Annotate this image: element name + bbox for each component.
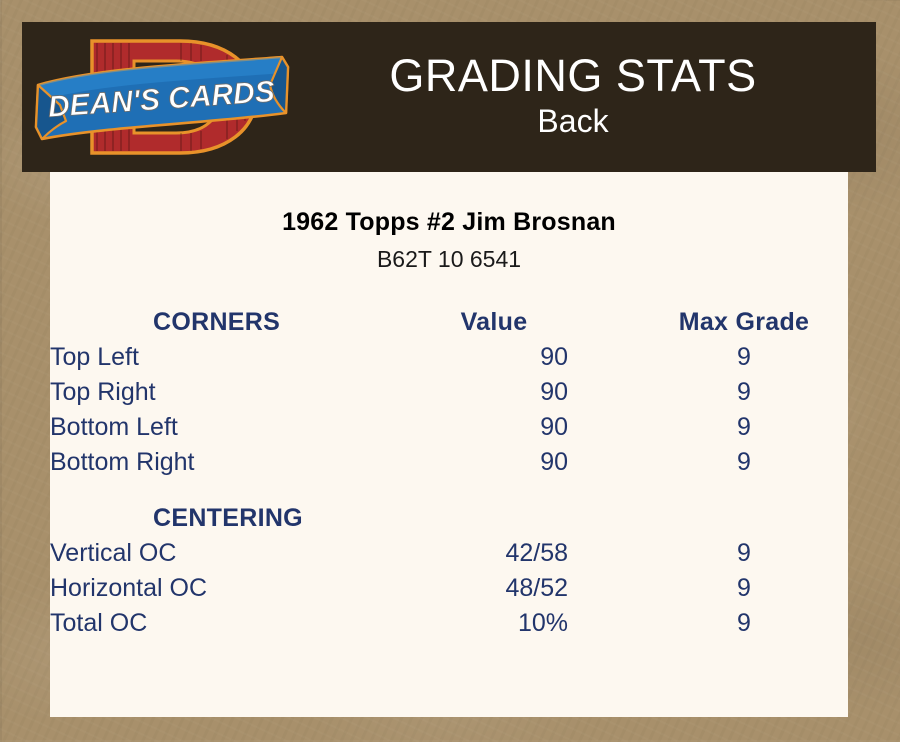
- row-label: Vertical OC: [50, 536, 420, 571]
- section-header-centering: CENTERING: [50, 501, 848, 536]
- row-label: Total OC: [50, 606, 420, 641]
- grading-stats-table: CORNERS Value Max Grade Top Left 90 9 To…: [50, 305, 848, 641]
- row-max-grade: 9: [640, 375, 848, 410]
- column-header-max-grade: Max Grade: [640, 305, 848, 340]
- table-row: Bottom Left 90 9: [50, 410, 848, 445]
- row-max-grade: 9: [640, 606, 848, 641]
- section-header-corners: CORNERS Value Max Grade: [50, 305, 848, 340]
- section-spacer: [50, 480, 848, 501]
- row-max-grade: 9: [640, 340, 848, 375]
- row-value: 90: [420, 340, 640, 375]
- content-panel: 1962 Topps #2 Jim Brosnan B62T 10 6541 C…: [50, 172, 848, 717]
- table-row: Horizontal OC 48/52 9: [50, 571, 848, 606]
- page-subtitle: Back: [300, 101, 846, 141]
- row-value: 48/52: [420, 571, 640, 606]
- row-value: 90: [420, 410, 640, 445]
- table-row: Total OC 10% 9: [50, 606, 848, 641]
- row-value: 10%: [420, 606, 640, 641]
- row-max-grade: 9: [640, 571, 848, 606]
- row-label: Bottom Left: [50, 410, 420, 445]
- section-title-corners: CORNERS: [50, 305, 420, 340]
- row-value: 90: [420, 375, 640, 410]
- table-row: Top Right 90 9: [50, 375, 848, 410]
- card-subtitle: B62T 10 6541: [50, 246, 848, 273]
- deans-cards-logo-icon: DEAN'S CARDS: [30, 27, 300, 167]
- row-label: Horizontal OC: [50, 571, 420, 606]
- header-title-block: GRADING STATS Back: [300, 53, 876, 141]
- card-title: 1962 Topps #2 Jim Brosnan: [50, 208, 848, 237]
- column-header-value: Value: [420, 305, 640, 340]
- row-max-grade: 9: [640, 410, 848, 445]
- row-label: Top Right: [50, 375, 420, 410]
- section-title-centering: CENTERING: [50, 501, 420, 536]
- row-label: Bottom Right: [50, 445, 420, 480]
- table-row: Vertical OC 42/58 9: [50, 536, 848, 571]
- row-label: Top Left: [50, 340, 420, 375]
- row-value: 42/58: [420, 536, 640, 571]
- page-title: GRADING STATS: [300, 53, 846, 99]
- row-max-grade: 9: [640, 536, 848, 571]
- header-bar: DEAN'S CARDS GRADING STATS Back: [22, 22, 876, 172]
- table-row: Top Left 90 9: [50, 340, 848, 375]
- table-row: Bottom Right 90 9: [50, 445, 848, 480]
- deans-cards-logo[interactable]: DEAN'S CARDS: [30, 27, 300, 167]
- row-value: 90: [420, 445, 640, 480]
- row-max-grade: 9: [640, 445, 848, 480]
